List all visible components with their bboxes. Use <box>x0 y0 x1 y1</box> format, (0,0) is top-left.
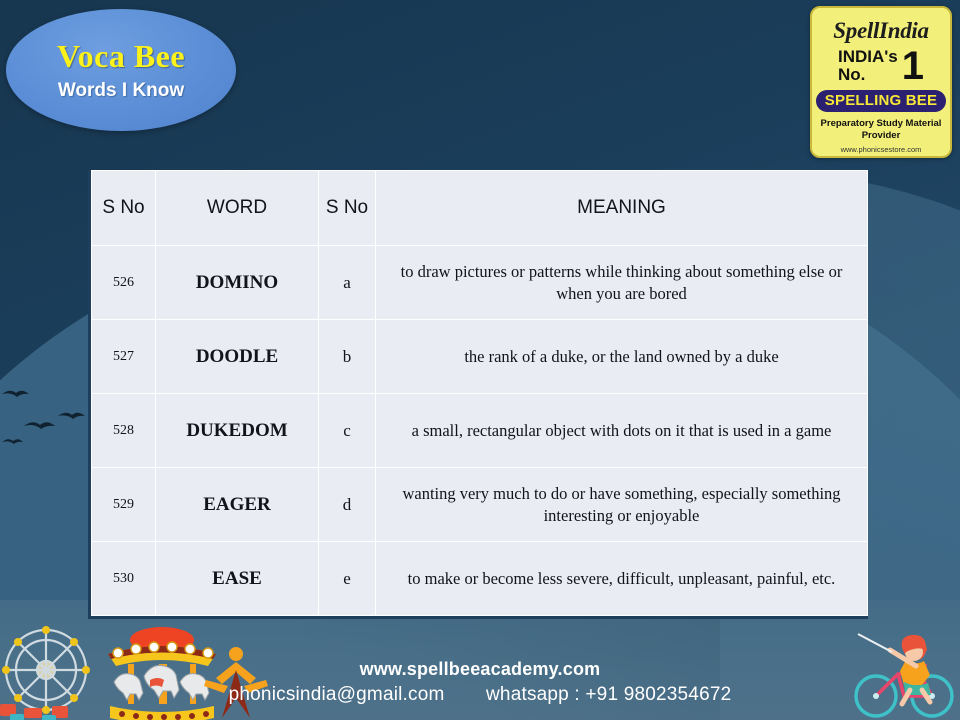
cell-letter: c <box>319 394 376 468</box>
table-row: 530 EASE e to make or become less severe… <box>92 542 868 616</box>
table-row: 528 DUKEDOM c a small, rectangular objec… <box>92 394 868 468</box>
footer-email: phonicsindia@gmail.com <box>229 684 445 705</box>
badge-indias-text: INDIA's <box>838 48 898 66</box>
cell-word: EAGER <box>156 468 319 542</box>
table-bottom-rule <box>91 616 868 619</box>
table-row: 526 DOMINO a to draw pictures or pattern… <box>92 246 868 320</box>
cell-word: EASE <box>156 542 319 616</box>
column-header-meaning: MEANING <box>376 171 868 246</box>
badge-no-text: No. <box>838 66 898 84</box>
badge-tagline: Preparatory Study Material Provider <box>812 118 950 142</box>
table-body: 526 DOMINO a to draw pictures or pattern… <box>92 246 868 616</box>
badge-rank-number: 1 <box>902 49 924 83</box>
logo-badge: Voca Bee Words I Know <box>6 9 236 131</box>
footer-contact-row: phonicsindia@gmail.com whatsapp : +91 98… <box>0 684 960 706</box>
table-header-row: S No WORD S No MEANING <box>92 171 868 246</box>
cell-meaning: to make or become less severe, difficult… <box>376 542 868 616</box>
table-row: 529 EAGER d wanting very much to do or h… <box>92 468 868 542</box>
spellindia-badge: SpellIndia INDIA's No. 1 SPELLING BEE Pr… <box>810 6 952 158</box>
words-table-container: S No WORD S No MEANING 526 DOMINO a to d… <box>88 170 868 619</box>
cell-letter: b <box>319 320 376 394</box>
table-row: 527 DOODLE b the rank of a duke, or the … <box>92 320 868 394</box>
cell-letter: e <box>319 542 376 616</box>
logo-subtitle: Words I Know <box>58 81 184 100</box>
footer: www.spellbeeacademy.com phonicsindia@gma… <box>0 659 960 706</box>
footer-website: www.spellbeeacademy.com <box>0 659 960 680</box>
cell-sno: 529 <box>92 468 156 542</box>
badge-rank-block: INDIA's No. 1 <box>812 48 950 84</box>
cell-word: DOODLE <box>156 320 319 394</box>
cell-letter: a <box>319 246 376 320</box>
cell-sno: 527 <box>92 320 156 394</box>
badge-rank-label: INDIA's No. <box>838 48 898 84</box>
slide-canvas: Voca Bee Words I Know SpellIndia INDIA's… <box>0 0 960 720</box>
cell-word: DUKEDOM <box>156 394 319 468</box>
cell-meaning: wanting very much to do or have somethin… <box>376 468 868 542</box>
cell-sno: 528 <box>92 394 156 468</box>
words-table: S No WORD S No MEANING 526 DOMINO a to d… <box>91 170 868 616</box>
badge-brand-name: SpellIndia <box>833 18 928 44</box>
cell-letter: d <box>319 468 376 542</box>
cell-word: DOMINO <box>156 246 319 320</box>
column-header-sno-right: S No <box>319 171 376 246</box>
cell-meaning: to draw pictures or patterns while think… <box>376 246 868 320</box>
column-header-word: WORD <box>156 171 319 246</box>
footer-whatsapp: whatsapp : +91 9802354672 <box>486 684 731 705</box>
column-header-sno-left: S No <box>92 171 156 246</box>
cell-sno: 526 <box>92 246 156 320</box>
cell-meaning: a small, rectangular object with dots on… <box>376 394 868 468</box>
cell-sno: 530 <box>92 542 156 616</box>
table-head: S No WORD S No MEANING <box>92 171 868 246</box>
logo-title: Voca Bee <box>57 40 185 72</box>
badge-spelling-bee-pill: SPELLING BEE <box>816 90 946 112</box>
badge-url: www.phonicsestore.com <box>841 145 922 154</box>
cell-meaning: the rank of a duke, or the land owned by… <box>376 320 868 394</box>
